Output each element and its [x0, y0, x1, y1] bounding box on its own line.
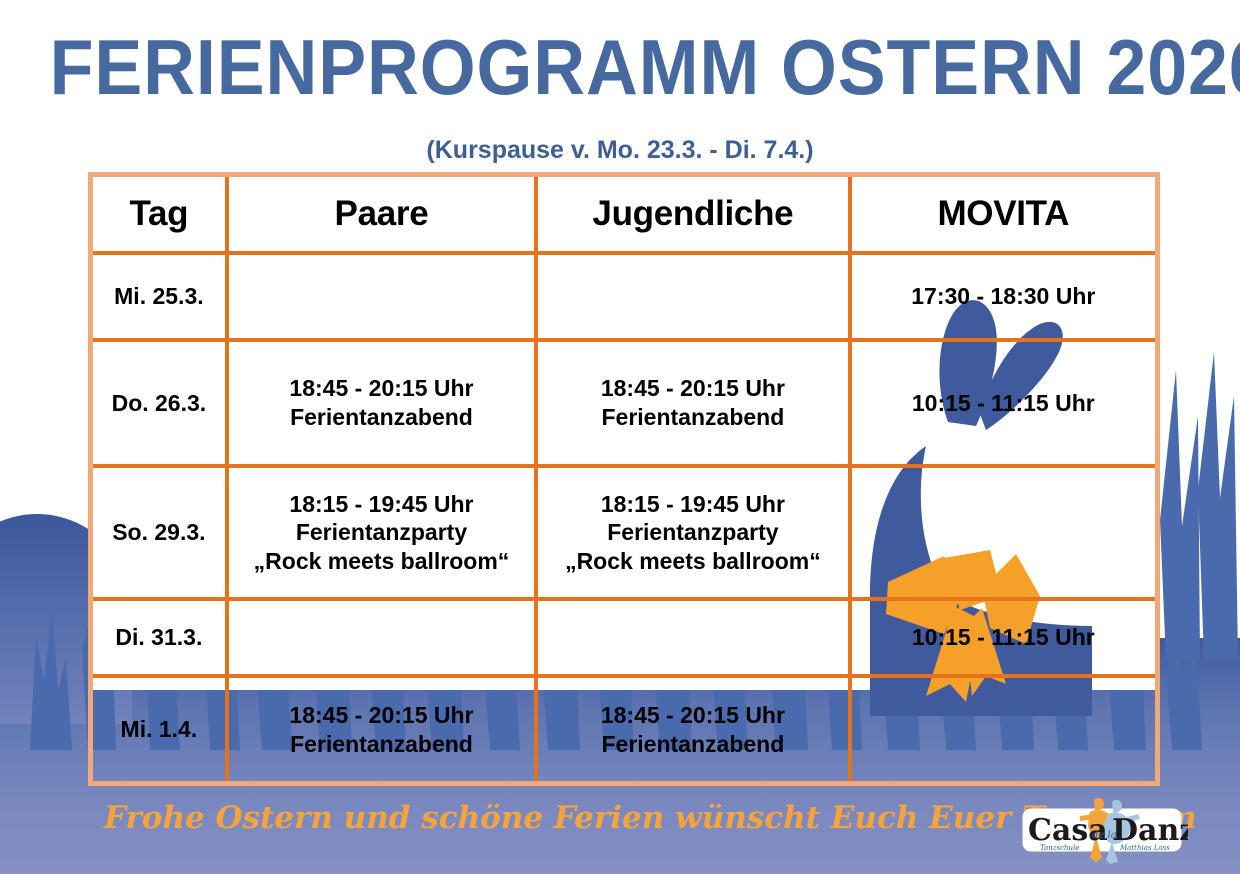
movita-line: 10:15 - 11:15 Uhr	[912, 389, 1095, 418]
cell-movita: 10:15 - 11:15 Uhr	[848, 601, 1155, 675]
paare-line: 18:45 - 20:15 Uhr	[289, 374, 473, 403]
paare-line: 18:45 - 20:15 Uhr	[289, 701, 473, 730]
page-title: FERIENPROGRAMM OSTERN 2026	[50, 22, 1191, 113]
paare-line: Ferientanzabend	[290, 403, 473, 432]
movita-line: 10:15 - 11:15 Uhr	[912, 623, 1095, 652]
table-row: Mi. 25.3. 17:30 - 18:30 Uhr	[93, 251, 1155, 338]
jugendliche-line: Ferientanzparty	[607, 518, 778, 547]
jugendliche-line: 18:15 - 19:45 Uhr	[601, 490, 785, 519]
day-label: Di. 31.3.	[115, 623, 202, 652]
paare-line: Ferientanzabend	[290, 730, 473, 759]
cell-jugendliche: 18:45 - 20:15 Uhr Ferientanzabend	[534, 678, 847, 781]
table-header-row: Tag Paare Jugendliche MOVITA	[93, 177, 1155, 251]
cell-paare: 18:45 - 20:15 Uhr Ferientanzabend	[225, 678, 534, 781]
jugendliche-line: „Rock meets ballroom“	[565, 547, 821, 576]
page-subtitle: (Kurspause v. Mo. 23.3. - Di. 7.4.)	[0, 136, 1240, 165]
day-label: So. 29.3.	[112, 518, 205, 547]
cell-day: So. 29.3.	[93, 468, 225, 596]
cell-day: Mi. 25.3.	[93, 255, 225, 338]
table-row: Di. 31.3. 10:15 - 11:15 Uhr	[93, 597, 1155, 675]
logo-subtext-name: Matthias Lass	[1119, 844, 1170, 852]
table-row: Mi. 1.4. 18:45 - 20:15 Uhr Ferientanzabe…	[93, 674, 1155, 781]
paare-line: Ferientanzparty	[296, 518, 467, 547]
casa-de-la-danza-logo[interactable]: Casa Danza de la Tanzschule Matthias Las…	[1016, 792, 1188, 868]
movita-line: 17:30 - 18:30 Uhr	[911, 282, 1095, 311]
day-label: Mi. 25.3.	[114, 282, 203, 311]
jugendliche-line: Ferientanzabend	[602, 730, 785, 759]
column-header-movita: MOVITA	[848, 177, 1155, 251]
cell-paare	[225, 601, 534, 675]
cell-paare: 18:45 - 20:15 Uhr Ferientanzabend	[225, 342, 534, 465]
table-row: So. 29.3. 18:15 - 19:45 Uhr Ferientanzpa…	[93, 464, 1155, 596]
jugendliche-line: 18:45 - 20:15 Uhr	[601, 701, 785, 730]
cell-jugendliche	[534, 601, 847, 675]
cell-movita	[848, 468, 1155, 596]
cell-movita: 17:30 - 18:30 Uhr	[848, 255, 1155, 338]
cell-movita	[848, 678, 1155, 781]
cell-day: Do. 26.3.	[93, 342, 225, 465]
cell-movita: 10:15 - 11:15 Uhr	[848, 342, 1155, 465]
column-header-jugendliche: Jugendliche	[534, 177, 847, 251]
logo-subtext-tanzschule: Tanzschule	[1040, 844, 1079, 852]
jugendliche-line: 18:45 - 20:15 Uhr	[601, 374, 785, 403]
column-header-paare: Paare	[225, 177, 534, 251]
cell-paare	[225, 255, 534, 338]
table-row: Do. 26.3. 18:45 - 20:15 Uhr Ferientanzab…	[93, 338, 1155, 465]
cell-jugendliche: 18:45 - 20:15 Uhr Ferientanzabend	[534, 342, 847, 465]
footer-greeting: Frohe Ostern und schöne Ferien wünscht E…	[104, 800, 1034, 836]
easter-program-poster: FERIENPROGRAMM OSTERN 2026 (Kurspause v.…	[0, 0, 1240, 874]
column-header-tag: Tag	[93, 177, 225, 251]
jugendliche-line: Ferientanzabend	[602, 403, 785, 432]
cell-day: Mi. 1.4.	[93, 678, 225, 781]
cell-jugendliche: 18:15 - 19:45 Uhr Ferientanzparty „Rock …	[534, 468, 847, 596]
schedule-table: Tag Paare Jugendliche MOVITA Mi. 25.3. 1…	[88, 172, 1160, 786]
logo-word-dela: de la	[1092, 830, 1117, 841]
paare-line: 18:15 - 19:45 Uhr	[289, 490, 473, 519]
day-label: Mi. 1.4.	[121, 715, 198, 744]
cell-day: Di. 31.3.	[93, 601, 225, 675]
cell-jugendliche	[534, 255, 847, 338]
day-label: Do. 26.3.	[112, 389, 207, 418]
logo-word-danza: Danza	[1112, 813, 1188, 848]
paare-line: „Rock meets ballroom“	[254, 547, 510, 576]
cell-paare: 18:15 - 19:45 Uhr Ferientanzparty „Rock …	[225, 468, 534, 596]
